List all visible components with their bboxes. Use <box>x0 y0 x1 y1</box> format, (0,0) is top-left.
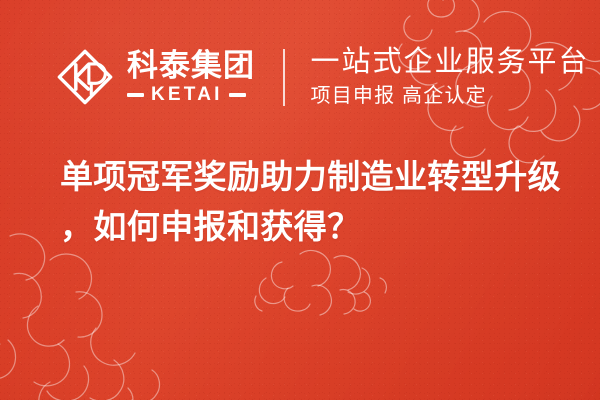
brand-tagline: 一站式企业服务平台 项目申报 高企认定 <box>311 47 590 107</box>
brand-name-en: KETAI <box>151 85 223 104</box>
dash-left-icon <box>127 93 144 97</box>
brand-name-en-row: KETAI <box>127 85 255 104</box>
tagline-sub: 项目申报 高企认定 <box>311 85 590 107</box>
tagline-main: 一站式企业服务平台 <box>311 47 590 78</box>
brand-logo[interactable]: 科泰集团 KETAI <box>56 48 255 106</box>
header-divider <box>283 49 285 106</box>
headline-line-2: ，如何申报和获得？ <box>60 202 556 252</box>
brand-wordmark: 科泰集团 KETAI <box>127 50 255 105</box>
banner-header: 科泰集团 KETAI 一站式企业服务平台 项目申报 高企认定 <box>56 44 590 110</box>
brand-name-cn: 科泰集团 <box>127 50 255 82</box>
article-cover-banner: 科泰集团 KETAI 一站式企业服务平台 项目申报 高企认定 单项冠军奖励助力制… <box>0 0 600 400</box>
ketai-diamond-kt-monogram-icon <box>56 48 114 106</box>
headline-line-1: 单项冠军奖励助力制造业转型升级 <box>60 152 556 202</box>
page-title: 单项冠军奖励助力制造业转型升级 ，如何申报和获得？ <box>60 152 556 252</box>
dash-right-icon <box>229 93 246 97</box>
